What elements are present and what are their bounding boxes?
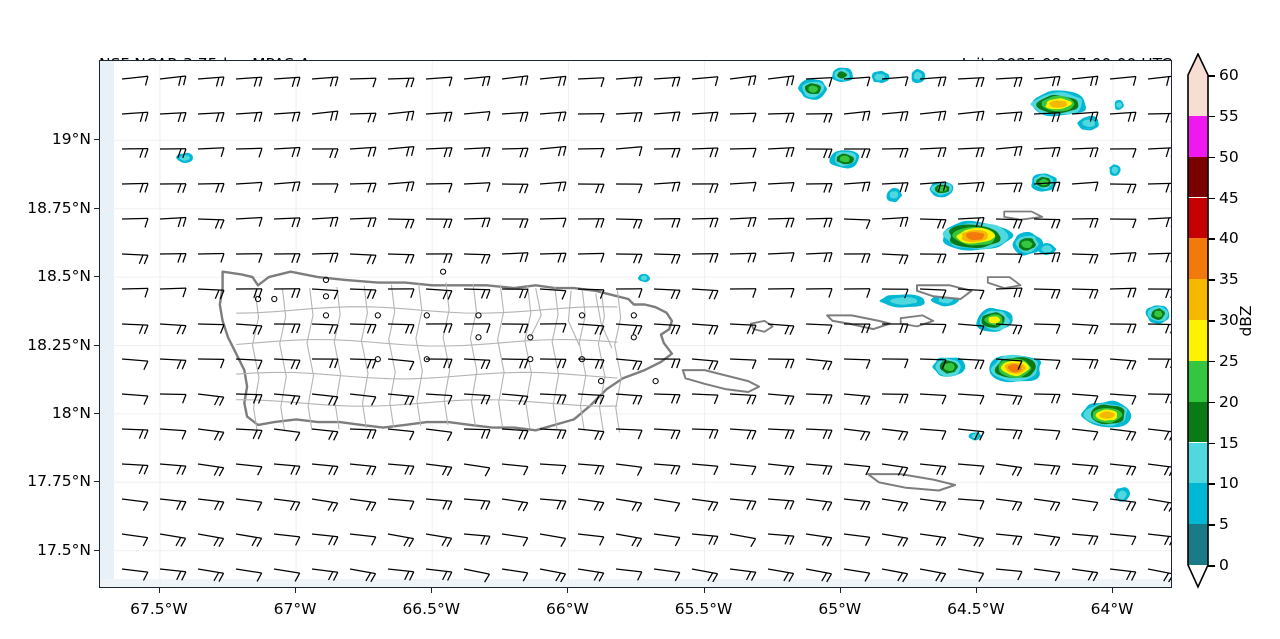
x-tickmark	[976, 588, 977, 593]
y-tick-label: 18.75°N	[0, 199, 91, 217]
x-tick-label: 66.5°W	[402, 600, 460, 618]
x-tickmark	[1112, 588, 1113, 593]
y-tick-label: 17.75°N	[0, 472, 91, 490]
colorbar-tickmark	[1208, 565, 1215, 567]
x-tickmark	[704, 588, 705, 593]
x-tick-label: 66°W	[546, 600, 589, 618]
x-tick-label: 67°W	[274, 600, 317, 618]
colorbar-tick-label: 45	[1219, 189, 1239, 207]
colorbar[interactable]	[1188, 75, 1208, 565]
x-tickmark	[159, 588, 160, 593]
colorbar-tick-label: 50	[1219, 148, 1239, 166]
colorbar-tick-label: 40	[1219, 229, 1239, 247]
y-tick-label: 17.5°N	[0, 541, 91, 559]
x-tick-label: 67.5°W	[130, 600, 188, 618]
colorbar-tick-label: 35	[1219, 270, 1239, 288]
x-tick-label: 65°W	[818, 600, 861, 618]
colorbar-tick-label: 15	[1219, 434, 1239, 452]
map-plot-area[interactable]	[99, 60, 1172, 588]
map-canvas	[100, 61, 1171, 587]
y-tickmark	[94, 345, 99, 346]
colorbar-tickmark	[1208, 279, 1215, 281]
colorbar-tickmark	[1208, 443, 1215, 445]
colorbar-tickmark	[1208, 238, 1215, 240]
x-tickmark	[431, 588, 432, 593]
x-tick-label: 64°W	[1091, 600, 1134, 618]
x-tickmark	[295, 588, 296, 593]
y-tickmark	[94, 481, 99, 482]
y-tickmark	[94, 208, 99, 209]
colorbar-tickmark	[1208, 116, 1215, 118]
y-tick-label: 18°N	[0, 404, 91, 422]
colorbar-tick-label: 60	[1219, 66, 1239, 84]
colorbar-tickmark	[1208, 361, 1215, 363]
x-tick-label: 64.5°W	[947, 600, 1005, 618]
colorbar-tickmark	[1208, 157, 1215, 159]
x-tick-label: 65.5°W	[675, 600, 733, 618]
y-tick-label: 18.5°N	[0, 267, 91, 285]
x-tickmark	[567, 588, 568, 593]
y-tick-label: 18.25°N	[0, 336, 91, 354]
colorbar-tickmark	[1208, 198, 1215, 200]
colorbar-tick-label: 55	[1219, 107, 1239, 125]
colorbar-tickmark	[1208, 483, 1215, 485]
colorbar-tick-label: 10	[1219, 474, 1239, 492]
x-tickmark	[840, 588, 841, 593]
y-tickmark	[94, 413, 99, 414]
colorbar-title: dBZ	[1237, 305, 1255, 336]
colorbar-tickmark	[1208, 524, 1215, 526]
y-tickmark	[94, 139, 99, 140]
y-tickmark	[94, 550, 99, 551]
y-tick-label: 19°N	[0, 130, 91, 148]
colorbar-tick-label: 30	[1219, 311, 1239, 329]
colorbar-tickmark	[1208, 402, 1215, 404]
colorbar-tick-label: 20	[1219, 393, 1239, 411]
colorbar-tickmark	[1208, 320, 1215, 322]
colorbar-tick-label: 25	[1219, 352, 1239, 370]
y-tickmark	[94, 276, 99, 277]
map-clip	[100, 61, 1171, 587]
colorbar-tick-label: 5	[1219, 515, 1229, 533]
colorbar-tickmark	[1208, 75, 1215, 77]
colorbar-tick-label: 0	[1219, 556, 1229, 574]
